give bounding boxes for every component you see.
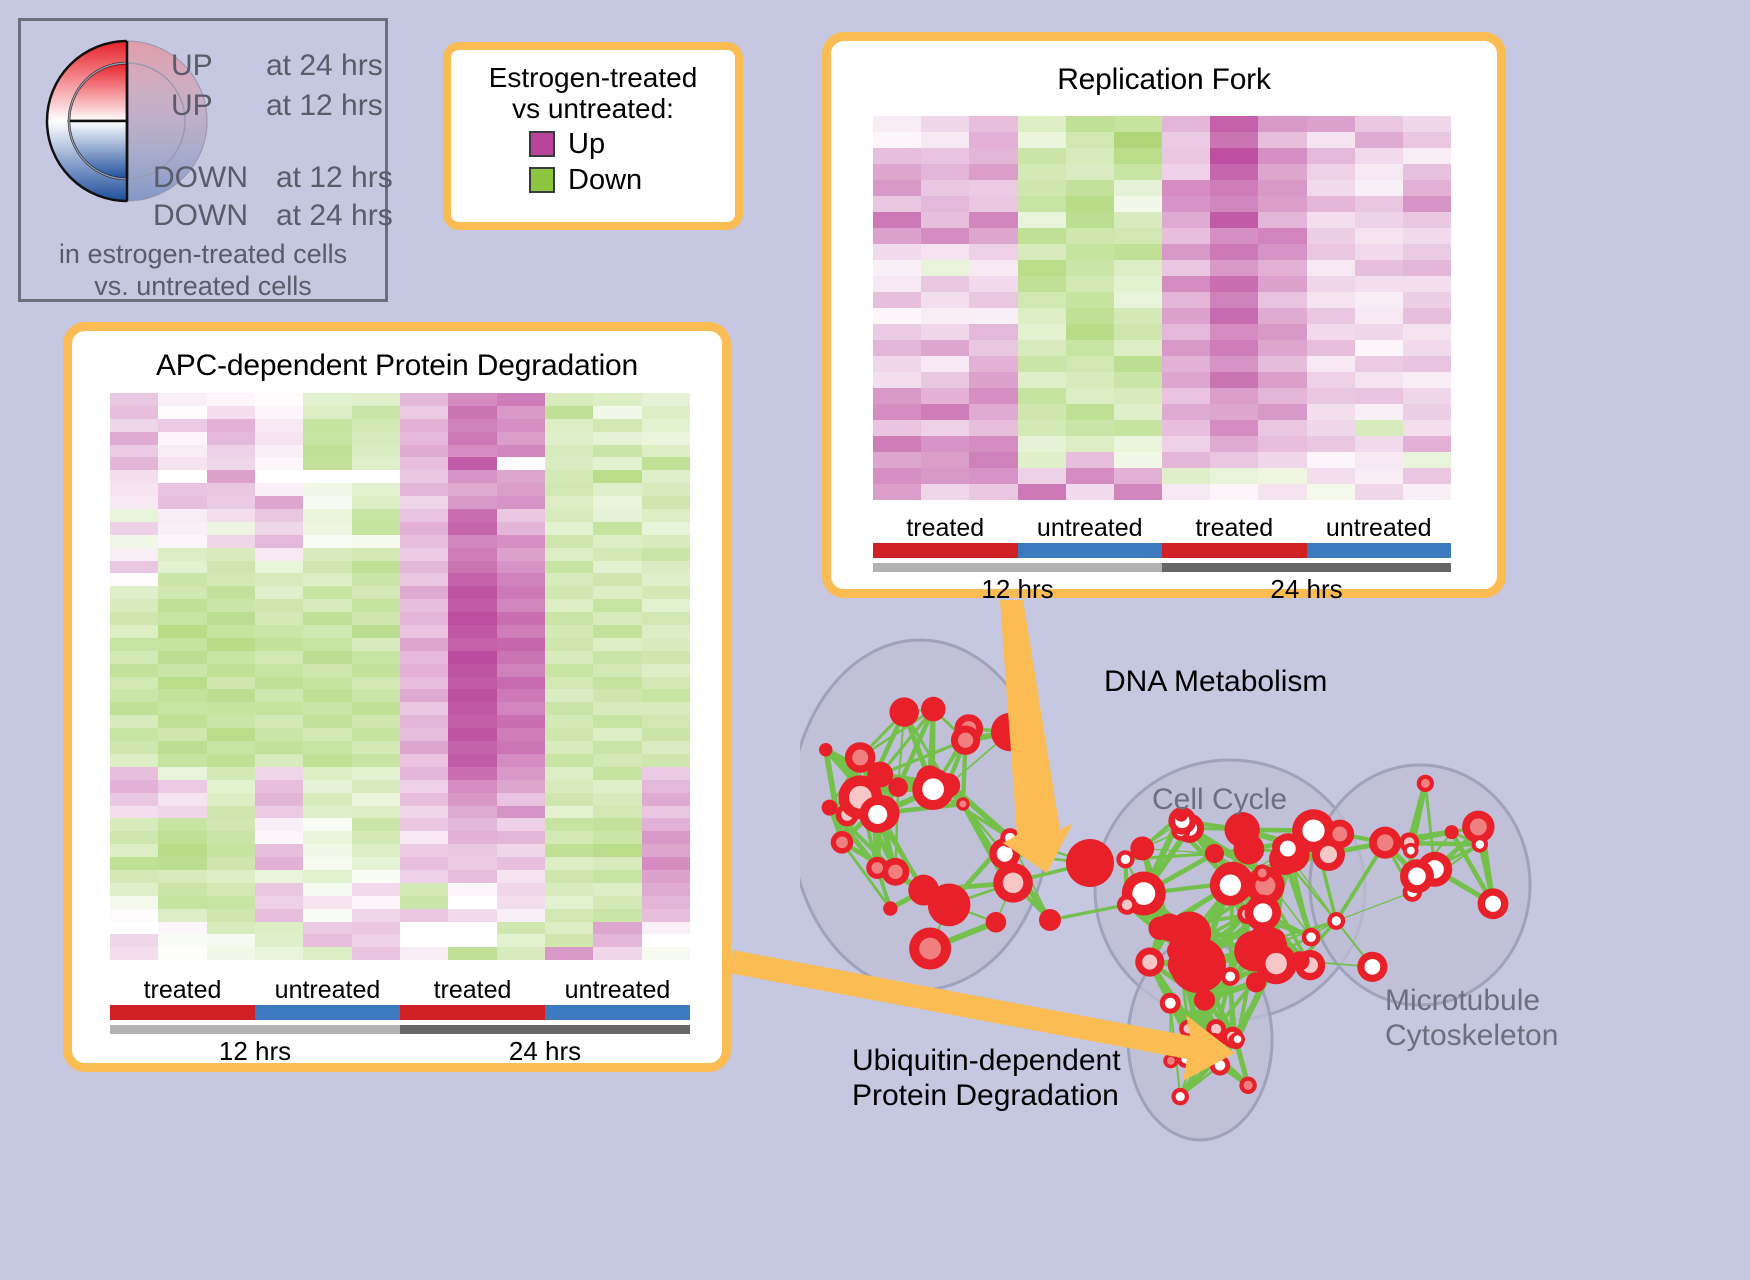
heatmap-cell	[207, 496, 255, 509]
heatmap-cell	[1114, 372, 1162, 388]
heatmap-cell	[352, 831, 400, 844]
heatmap-cell	[255, 496, 303, 509]
heatmap-cell	[1114, 468, 1162, 484]
heatmap-cell	[255, 432, 303, 445]
heatmap-cell	[1307, 452, 1355, 468]
heatmap-cell	[303, 483, 351, 496]
heatmap-cell	[110, 677, 158, 690]
network-node-core	[1186, 1037, 1194, 1045]
heatmap-cell	[352, 509, 400, 522]
heatmap-cell	[400, 741, 448, 754]
heatmap-cell	[1162, 308, 1210, 324]
heatmap-cell	[921, 148, 969, 164]
network-node-core	[1306, 932, 1316, 942]
heatmap-cell	[642, 573, 690, 586]
heatmap-cell	[158, 780, 206, 793]
heatmap-cell	[110, 934, 158, 947]
heatmap-cell	[969, 340, 1017, 356]
heatmap-cell	[255, 883, 303, 896]
heatmap-cell	[545, 831, 593, 844]
heatmap-cell	[593, 419, 641, 432]
heatmap-cell	[545, 702, 593, 715]
heatmap-cell	[921, 420, 969, 436]
heatmap-cell	[448, 509, 496, 522]
heatmap-cell	[1114, 436, 1162, 452]
heatmap-cell	[400, 857, 448, 870]
heatmap-cell	[1258, 484, 1306, 500]
heatmap-cell	[352, 689, 400, 702]
heatmap-cell	[1355, 404, 1403, 420]
heatmap-cell	[255, 561, 303, 574]
heatmap-cell	[1307, 372, 1355, 388]
heatmap-cell	[303, 844, 351, 857]
heatmap-cell	[1403, 404, 1451, 420]
heatmap-cell	[1355, 340, 1403, 356]
time-bar-24hrs	[400, 1025, 690, 1034]
heatmap-cell	[448, 393, 496, 406]
network-node-core	[1167, 1057, 1175, 1065]
heatmap-cell	[158, 664, 206, 677]
heatmap-cell	[642, 651, 690, 664]
heatmap-cell	[255, 509, 303, 522]
heatmap-cell	[207, 638, 255, 651]
heatmap-cell	[448, 664, 496, 677]
heatmap-cell	[400, 689, 448, 702]
heatmap-cell	[448, 870, 496, 883]
legend-title-line2: vs untreated:	[451, 93, 735, 124]
heatmap-cell	[352, 457, 400, 470]
heatmap-cell	[352, 561, 400, 574]
heatmap-cell	[545, 780, 593, 793]
heatmap-cell	[545, 445, 593, 458]
heatmap-cell	[497, 780, 545, 793]
heatmap-cell	[593, 586, 641, 599]
heatmap-cell	[1066, 116, 1114, 132]
heatmap-cell	[1258, 196, 1306, 212]
heatmap-cell	[873, 372, 921, 388]
heatmap-cell	[1307, 308, 1355, 324]
updown-legend-panel: Estrogen-treated vs untreated: Up Down	[443, 42, 743, 230]
cond-bar-treated-24	[400, 1005, 545, 1020]
heatmap-cell	[352, 844, 400, 857]
heatmap-cell	[400, 509, 448, 522]
heatmap-cell	[448, 831, 496, 844]
heatmap-cell	[110, 548, 158, 561]
heatmap-cell	[545, 947, 593, 960]
heatmap-cell	[1066, 436, 1114, 452]
heatmap-cell	[593, 483, 641, 496]
heatmap-cell	[303, 561, 351, 574]
heatmap-cell	[352, 664, 400, 677]
heatmap-cell	[1066, 276, 1114, 292]
heatmap-cell	[1162, 420, 1210, 436]
legend-label-down: Down	[568, 164, 642, 197]
heatmap-cell	[158, 483, 206, 496]
heatmap-cell	[642, 702, 690, 715]
heatmap-cell	[545, 806, 593, 819]
heatmap-cell	[207, 419, 255, 432]
heatmap-cell	[400, 612, 448, 625]
heatmap-cell	[448, 896, 496, 909]
heatmap-cell	[158, 909, 206, 922]
heatmap-cell	[448, 767, 496, 780]
heatmap-cell	[1258, 356, 1306, 372]
network-node	[1267, 929, 1286, 948]
heatmap-cell	[110, 638, 158, 651]
heatmap-cell	[1403, 468, 1451, 484]
heatmap-cell	[1162, 292, 1210, 308]
heatmap-cell	[400, 715, 448, 728]
heatmap-cell	[400, 599, 448, 612]
network-node-core	[1244, 1081, 1253, 1090]
heatmap-cell	[545, 457, 593, 470]
heatmap-cell	[400, 767, 448, 780]
heatmap-cell	[207, 831, 255, 844]
heatmap-cell	[1403, 372, 1451, 388]
heatmap-cell	[352, 767, 400, 780]
heatmap-cell	[1018, 484, 1066, 500]
cond-bar-untreated-12	[1018, 543, 1163, 558]
heatmap-cell	[352, 419, 400, 432]
heatmap-cell	[1258, 164, 1306, 180]
heatmap-cell	[545, 896, 593, 909]
heatmap-cell	[400, 934, 448, 947]
key-time-down-12: at 12 hrs	[276, 161, 393, 195]
heatmap-cell	[303, 831, 351, 844]
heatmap-cell	[921, 180, 969, 196]
heatmap-cell	[921, 436, 969, 452]
heatmap-cell	[110, 457, 158, 470]
heatmap-cell	[207, 432, 255, 445]
heatmap-cell	[1018, 324, 1066, 340]
heatmap-cell	[448, 496, 496, 509]
heatmap-cell	[110, 599, 158, 612]
heatmap-cell	[497, 806, 545, 819]
heatmap-cell	[110, 470, 158, 483]
heatmap-cell	[1210, 260, 1258, 276]
network-node-core	[1181, 1054, 1191, 1064]
network-node-core	[1407, 847, 1415, 855]
heatmap-cell	[255, 586, 303, 599]
heatmap-cell	[448, 909, 496, 922]
heatmap-cell	[497, 664, 545, 677]
heatmap-cell	[158, 883, 206, 896]
replication-fork-condition-bar	[873, 543, 1451, 558]
heatmap-cell	[303, 793, 351, 806]
heatmap-cell	[448, 548, 496, 561]
heatmap-cell	[207, 651, 255, 664]
heatmap-cell	[545, 857, 593, 870]
heatmap-cell	[921, 164, 969, 180]
heatmap-cell	[400, 445, 448, 458]
heatmap-cell	[1114, 244, 1162, 260]
heatmap-cell	[1307, 116, 1355, 132]
heatmap-cell	[545, 483, 593, 496]
heatmap-cell	[1162, 324, 1210, 340]
heatmap-cell	[255, 922, 303, 935]
heatmap-cell	[303, 767, 351, 780]
heatmap-cell	[873, 180, 921, 196]
heatmap-cell	[642, 483, 690, 496]
heatmap-cell	[1114, 180, 1162, 196]
heatmap-cell	[593, 522, 641, 535]
heatmap-cell	[642, 509, 690, 522]
heatmap-cell	[1162, 276, 1210, 292]
heatmap-cell	[969, 164, 1017, 180]
network-node-core	[1470, 818, 1487, 835]
heatmap-cell	[1162, 212, 1210, 228]
heatmap-cell	[303, 677, 351, 690]
heatmap-cell	[207, 870, 255, 883]
network-node	[819, 743, 832, 756]
heatmap-cell	[1066, 452, 1114, 468]
heatmap-cell	[352, 496, 400, 509]
heatmap-cell	[1066, 404, 1114, 420]
heatmap-cell	[1018, 356, 1066, 372]
heatmap-cell	[448, 715, 496, 728]
heatmap-cell	[969, 132, 1017, 148]
heatmap-cell	[497, 896, 545, 909]
heatmap-cell	[497, 741, 545, 754]
heatmap-cell	[593, 831, 641, 844]
heatmap-cell	[110, 909, 158, 922]
heatmap-cell	[1403, 388, 1451, 404]
heatmap-cell	[1307, 340, 1355, 356]
heatmap-cell	[207, 780, 255, 793]
heatmap-cell	[1403, 196, 1451, 212]
heatmap-cell	[448, 934, 496, 947]
heatmap-cell	[642, 664, 690, 677]
heatmap-cell	[1162, 340, 1210, 356]
legend-title-line1: Estrogen-treated	[451, 62, 735, 93]
heatmap-cell	[1018, 452, 1066, 468]
network-node-core	[919, 938, 941, 960]
heatmap-cell	[1162, 356, 1210, 372]
key-time-down-24: at 24 hrs	[276, 199, 393, 233]
heatmap-cell	[593, 922, 641, 935]
heatmap-cell	[158, 406, 206, 419]
heatmap-cell	[352, 599, 400, 612]
heatmap-cell	[969, 388, 1017, 404]
heatmap-cell	[1355, 356, 1403, 372]
heatmap-cell	[969, 228, 1017, 244]
network-node-core	[922, 778, 944, 800]
heatmap-cell	[110, 625, 158, 638]
heatmap-cell	[303, 780, 351, 793]
heatmap-cell	[873, 132, 921, 148]
heatmap-cell	[1066, 388, 1114, 404]
heatmap-cell	[400, 702, 448, 715]
apc-time-bar	[110, 1025, 690, 1034]
network-node-core	[997, 846, 1013, 862]
heatmap-cell	[1403, 436, 1451, 452]
network-node-core	[1332, 916, 1341, 925]
heatmap-cell	[497, 883, 545, 896]
heatmap-cell	[255, 689, 303, 702]
heatmap-cell	[400, 664, 448, 677]
heatmap-cell	[642, 470, 690, 483]
heatmap-cell	[158, 496, 206, 509]
network-node-core	[1211, 1024, 1221, 1034]
heatmap-cell	[207, 535, 255, 548]
heatmap-cell	[642, 586, 690, 599]
heatmap-cell	[1355, 324, 1403, 340]
heatmap-cell	[158, 677, 206, 690]
network-node-core	[1253, 903, 1272, 922]
heatmap-cell	[448, 561, 496, 574]
heatmap-cell	[873, 244, 921, 260]
heatmap-cell	[255, 947, 303, 960]
heatmap-cell	[207, 715, 255, 728]
heatmap-cell	[255, 831, 303, 844]
heatmap-cell	[110, 896, 158, 909]
heatmap-cell	[1162, 180, 1210, 196]
heatmap-cell	[1018, 132, 1066, 148]
heatmap-cell	[400, 806, 448, 819]
heatmap-cell	[255, 870, 303, 883]
heatmap-cell	[1018, 148, 1066, 164]
heatmap-cell	[303, 754, 351, 767]
heatmap-cell	[255, 767, 303, 780]
heatmap-cell	[642, 922, 690, 935]
heatmap-cell	[1210, 148, 1258, 164]
network-node-core	[1485, 896, 1501, 912]
heatmap-cell	[1162, 404, 1210, 420]
heatmap-cell	[400, 573, 448, 586]
heatmap-cell	[303, 586, 351, 599]
heatmap-cell	[352, 651, 400, 664]
heatmap-cell	[497, 393, 545, 406]
heatmap-cell	[1307, 180, 1355, 196]
network-node-core	[1302, 820, 1324, 842]
heatmap-cell	[1355, 292, 1403, 308]
heatmap-cell	[593, 806, 641, 819]
heatmap-cell	[1114, 356, 1162, 372]
network-node	[1156, 914, 1184, 942]
heatmap-cell	[593, 857, 641, 870]
heatmap-cell	[642, 909, 690, 922]
heatmap-cell	[158, 573, 206, 586]
heatmap-cell	[255, 573, 303, 586]
heatmap-cell	[352, 922, 400, 935]
heatmap-cell	[642, 406, 690, 419]
heatmap-cell	[1114, 420, 1162, 436]
heatmap-cell	[303, 922, 351, 935]
heatmap-cell	[1355, 372, 1403, 388]
heatmap-cell	[158, 432, 206, 445]
cond-label-2: treated	[400, 976, 545, 1005]
heatmap-cell	[497, 870, 545, 883]
heatmap-cell	[400, 651, 448, 664]
heatmap-cell	[969, 196, 1017, 212]
heatmap-cell	[497, 702, 545, 715]
heatmap-cell	[1307, 436, 1355, 452]
network-node	[927, 704, 940, 717]
heatmap-cell	[448, 445, 496, 458]
heatmap-cell	[207, 934, 255, 947]
key-caption-line1: in estrogen-treated cells	[21, 239, 385, 269]
heatmap-cell	[497, 818, 545, 831]
network-node	[1224, 812, 1259, 847]
heatmap-cell	[207, 599, 255, 612]
heatmap-cell	[448, 728, 496, 741]
heatmap-cell	[158, 638, 206, 651]
heatmap-cell	[303, 909, 351, 922]
heatmap-cell	[158, 419, 206, 432]
heatmap-cell	[255, 677, 303, 690]
heatmap-cell	[255, 483, 303, 496]
heatmap-cell	[642, 896, 690, 909]
heatmap-cell	[400, 780, 448, 793]
heatmap-cell	[303, 870, 351, 883]
heatmap-cell	[303, 947, 351, 960]
heatmap-cell	[642, 741, 690, 754]
network-node-core	[1476, 840, 1485, 849]
heatmap-cell	[921, 356, 969, 372]
cond-bar-treated-24	[1162, 543, 1307, 558]
heatmap-cell	[110, 922, 158, 935]
heatmap-cell	[255, 625, 303, 638]
heatmap-cell	[158, 818, 206, 831]
heatmap-cell	[158, 522, 206, 535]
heatmap-cell	[448, 573, 496, 586]
heatmap-cell	[969, 436, 1017, 452]
heatmap-cell	[255, 651, 303, 664]
heatmap-cell	[158, 793, 206, 806]
heatmap-cell	[1162, 132, 1210, 148]
heatmap-cell	[1066, 356, 1114, 372]
heatmap-cell	[969, 404, 1017, 420]
heatmap-cell	[593, 767, 641, 780]
heatmap-cell	[110, 419, 158, 432]
network-node	[822, 800, 838, 816]
heatmap-cell	[1210, 244, 1258, 260]
heatmap-cell	[545, 741, 593, 754]
heatmap-cell	[873, 308, 921, 324]
heatmap-cell	[1258, 244, 1306, 260]
heatmap-cell	[1018, 420, 1066, 436]
network-node	[883, 901, 897, 915]
network-node	[1205, 844, 1224, 863]
heatmap-cell	[545, 625, 593, 638]
heatmap-cell	[352, 728, 400, 741]
heatmap-cell	[1258, 148, 1306, 164]
network-node-core	[1408, 867, 1426, 885]
heatmap-cell	[1403, 484, 1451, 500]
heatmap-cell	[593, 947, 641, 960]
heatmap-cell	[1355, 436, 1403, 452]
heatmap-cell	[545, 883, 593, 896]
heatmap-cell	[352, 947, 400, 960]
heatmap-cell	[352, 573, 400, 586]
heatmap-cell	[969, 468, 1017, 484]
heatmap-cell	[1018, 228, 1066, 244]
heatmap-cell	[400, 922, 448, 935]
heatmap-cell	[1066, 180, 1114, 196]
heatmap-cell	[1355, 388, 1403, 404]
heatmap-cell	[1403, 452, 1451, 468]
heatmap-cell	[1210, 468, 1258, 484]
heatmap-cell	[1258, 372, 1306, 388]
heatmap-cell	[255, 445, 303, 458]
network-node-core	[1215, 1060, 1226, 1071]
network-node-core	[1265, 953, 1286, 974]
heatmap-cell	[497, 728, 545, 741]
network-node-core	[1176, 1092, 1185, 1101]
heatmap-cell	[303, 702, 351, 715]
heatmap-cell	[921, 308, 969, 324]
heatmap-cell	[1210, 164, 1258, 180]
